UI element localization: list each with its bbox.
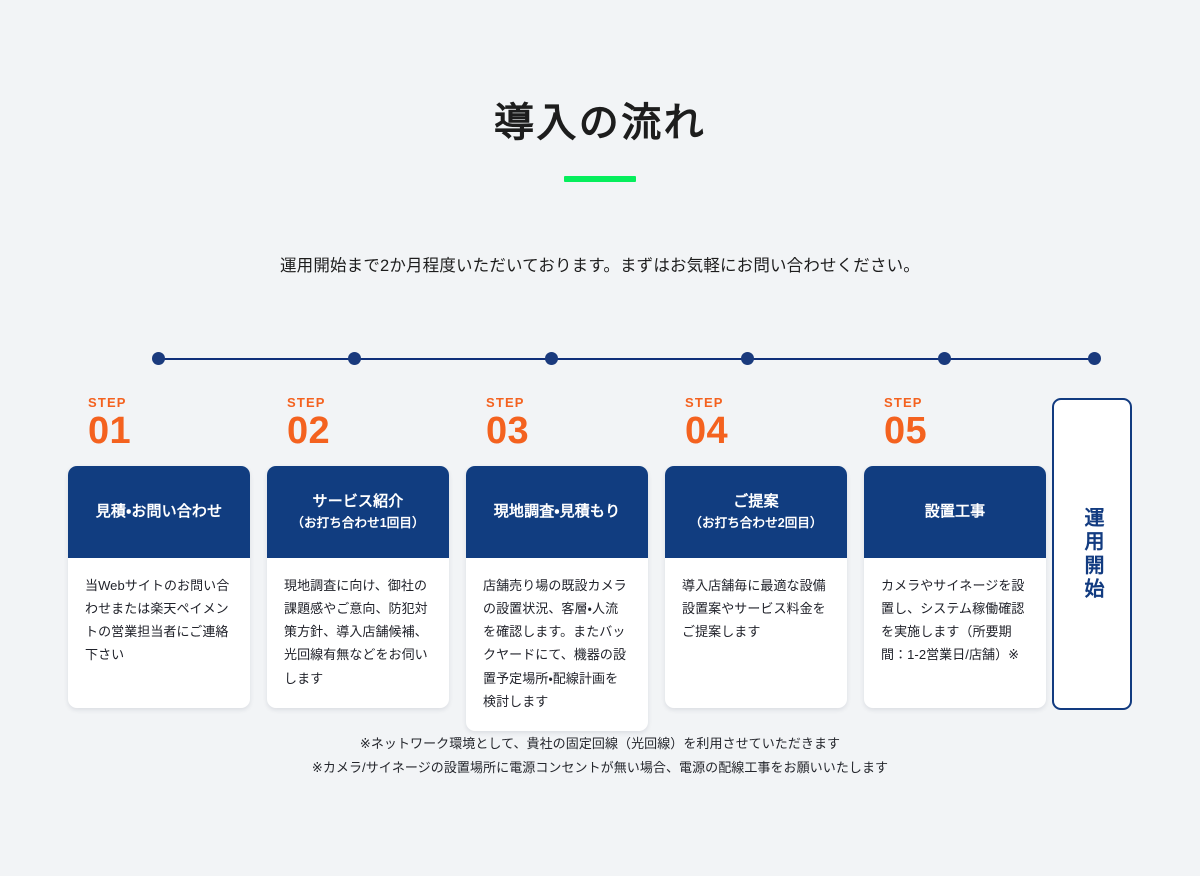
step-column-1: STEP 01 見積・お問い合わせ 当Webサイトのお問い合わせまたは楽天ペイメ… [68,396,250,708]
step-card-header-3: 現地調査・見積もり [466,466,648,558]
step-card-header-4: ご提案 （お打ち合わせ2回目） [665,466,847,558]
step-word-2: STEP [287,396,449,409]
step-column-4: STEP 04 ご提案 （お打ち合わせ2回目） 導入店舗毎に最適な設備設置案やサ… [665,396,847,708]
step-card-body-1: 当Webサイトのお問い合わせまたは楽天ペイメントの営業担当者にご連絡下さい [68,558,250,685]
step-card-title-2: サービス紹介 [313,492,404,512]
step-card-4[interactable]: ご提案 （お打ち合わせ2回目） 導入店舗毎に最適な設備設置案やサービス料金をご提… [665,466,847,708]
timeline-dot-6 [1088,352,1101,365]
step-card-title-1: 見積・お問い合わせ [96,502,222,522]
step-card-header-1: 見積・お問い合わせ [68,466,250,558]
step-number-5: 05 [884,412,1046,452]
timeline [158,352,1094,366]
step-card-body-4: 導入店舗毎に最適な設備設置案やサービス料金をご提案します [665,558,847,661]
step-card-5[interactable]: 設置工事 カメラやサイネージを設置し、システム稼働確認を実施します（所要期間：1… [864,466,1046,708]
step-card-header-2: サービス紹介 （お打ち合わせ1回目） [267,466,449,558]
page-title: 導入の流れ [0,98,1200,148]
flow-page: 導入の流れ 運用開始まで2か月程度いただいております。まずはお気軽にお問い合わせ… [0,0,1200,876]
step-card-1[interactable]: 見積・お問い合わせ 当Webサイトのお問い合わせまたは楽天ペイメントの営業担当者… [68,466,250,708]
lead-paragraph: 運用開始まで2か月程度いただいております。まずはお気軽にお問い合わせください。 [0,252,1200,276]
step-number-4: 04 [685,412,847,452]
step-word-4: STEP [685,396,847,409]
step-card-body-5: カメラやサイネージを設置し、システム稼働確認を実施します（所要期間：1-2営業日… [864,558,1046,685]
step-card-subtitle-2: （お打ち合わせ1回目） [291,515,424,532]
title-underline-accent [564,176,636,182]
step-meta-2: STEP 02 [267,396,449,466]
step-card-title-5: 設置工事 [925,502,986,522]
final-stage-column: 運用開始 [1052,398,1132,710]
steps-row: STEP 01 見積・お問い合わせ 当Webサイトのお問い合わせまたは楽天ペイメ… [68,396,1132,731]
footnote-1: ※ネットワーク環境として、貴社の固定回線（光回線）を利用させていただきます [0,732,1200,756]
step-meta-4: STEP 04 [665,396,847,466]
footnote-2: ※カメラ/サイネージの設置場所に電源コンセントが無い場合、電源の配線工事をお願い… [0,756,1200,780]
footnotes: ※ネットワーク環境として、貴社の固定回線（光回線）を利用させていただきます ※カ… [0,732,1200,780]
timeline-dot-2 [348,352,361,365]
step-number-3: 03 [486,412,648,452]
step-card-subtitle-4: （お打ち合わせ2回目） [689,515,822,532]
step-column-3: STEP 03 現地調査・見積もり 店舗売り場の既設カメラの設置状況、客層・人流… [466,396,648,731]
step-card-body-2: 現地調査に向け、御社の課題感やご意向、防犯対策方針、導入店舗候補、光回線有無など… [267,558,449,708]
timeline-dot-4 [741,352,754,365]
step-number-1: 01 [88,412,250,452]
step-column-2: STEP 02 サービス紹介 （お打ち合わせ1回目） 現地調査に向け、御社の課題… [267,396,449,708]
step-meta-1: STEP 01 [68,396,250,466]
timeline-line [158,358,1094,360]
step-card-body-3: 店舗売り場の既設カメラの設置状況、客層・人流を確認します。またバックヤードにて、… [466,558,648,731]
timeline-dot-1 [152,352,165,365]
step-card-title-3: 現地調査・見積もり [494,502,620,522]
step-card-3[interactable]: 現地調査・見積もり 店舗売り場の既設カメラの設置状況、客層・人流を確認します。ま… [466,466,648,731]
timeline-dot-3 [545,352,558,365]
timeline-dot-5 [938,352,951,365]
step-card-header-5: 設置工事 [864,466,1046,558]
operation-start-label: 運用開始 [1081,507,1103,601]
step-card-2[interactable]: サービス紹介 （お打ち合わせ1回目） 現地調査に向け、御社の課題感やご意向、防犯… [267,466,449,708]
step-card-title-4: ご提案 [733,492,778,512]
step-meta-5: STEP 05 [864,396,1046,466]
page-heading: 導入の流れ [0,98,1200,182]
step-word-1: STEP [88,396,250,409]
step-meta-3: STEP 03 [466,396,648,466]
step-word-3: STEP [486,396,648,409]
operation-start-box[interactable]: 運用開始 [1052,398,1132,710]
step-column-5: STEP 05 設置工事 カメラやサイネージを設置し、システム稼働確認を実施しま… [864,396,1046,708]
step-word-5: STEP [884,396,1046,409]
step-number-2: 02 [287,412,449,452]
